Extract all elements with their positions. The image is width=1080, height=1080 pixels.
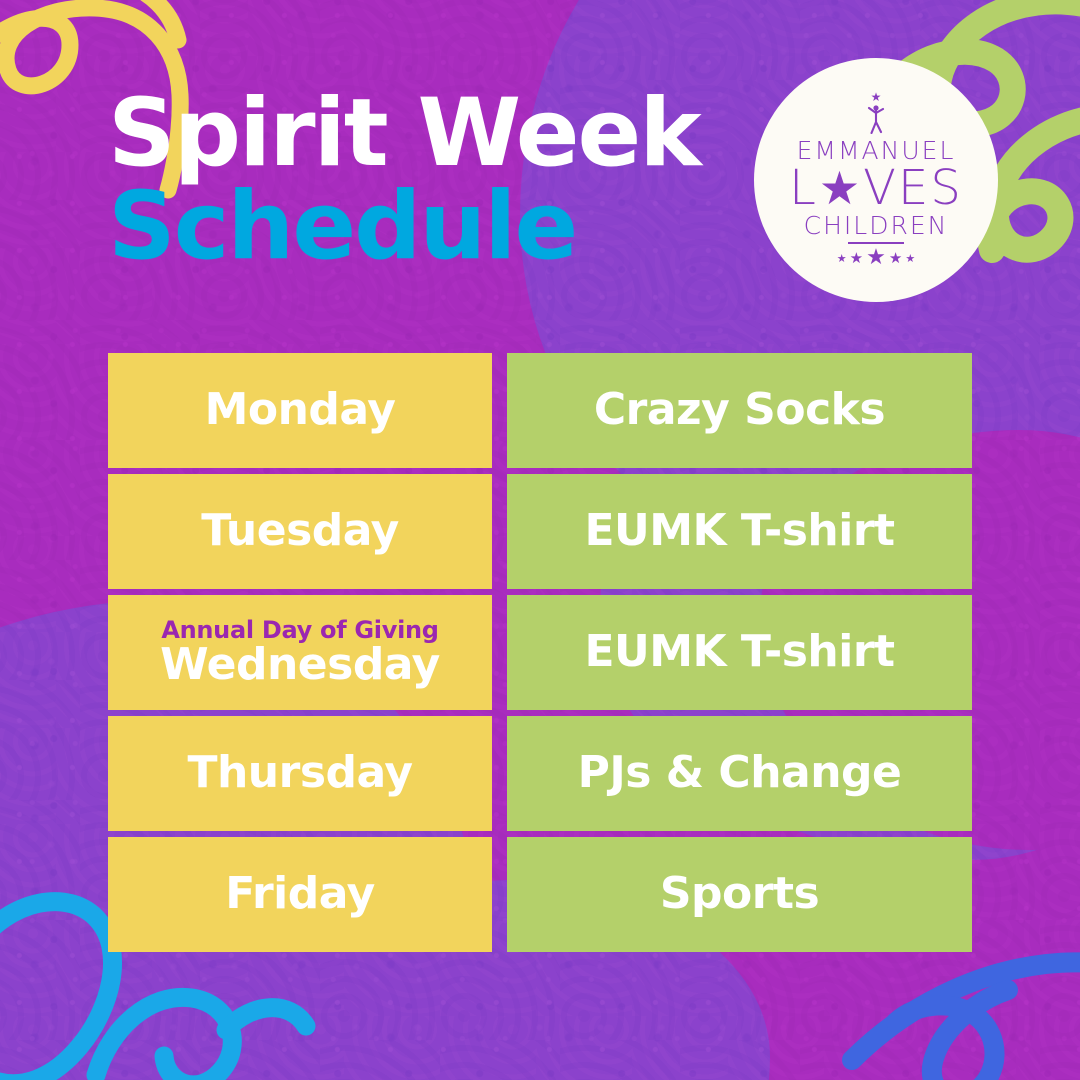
day-label: Monday	[205, 387, 396, 433]
day-cell: Thursday	[108, 716, 492, 831]
logo-star-icon: ★	[850, 251, 863, 266]
day-label: Thursday	[187, 750, 412, 796]
organization-logo: ★ EMMANUEL L ★ VES CHILDREN ★ ★ ★ ★ ★	[754, 58, 998, 302]
logo-word-children: CHILDREN	[804, 213, 949, 238]
child-figure-icon	[867, 104, 885, 134]
logo-word-loves-suffix: VES	[863, 163, 963, 213]
table-row: Tuesday EUMK T-shirt	[108, 474, 972, 589]
activity-label: Sports	[660, 871, 819, 917]
schedule-table: Monday Crazy Socks Tuesday EUMK T-shirt …	[108, 353, 972, 958]
activity-label: PJs & Change	[578, 750, 902, 796]
spirit-week-poster: Spirit Week Schedule ★ EMMANUEL L ★ VES …	[0, 0, 1080, 1080]
page-title-line2: Schedule	[108, 179, 728, 275]
day-label: Tuesday	[201, 508, 399, 554]
activity-cell: EUMK T-shirt	[507, 474, 972, 589]
logo-star-icon: ★	[905, 253, 915, 264]
day-label: Friday	[225, 871, 375, 917]
logo-star-icon: ★	[837, 253, 847, 264]
activity-cell: Sports	[507, 837, 972, 952]
activity-cell: Crazy Socks	[507, 353, 972, 468]
day-cell: Monday	[108, 353, 492, 468]
activity-cell: EUMK T-shirt	[507, 595, 972, 710]
logo-word-loves-prefix: L	[789, 163, 818, 213]
logo-star-row: ★ ★ ★ ★ ★	[837, 247, 915, 269]
logo-star-icon: ★	[889, 251, 902, 266]
poster-header: Spirit Week Schedule	[108, 88, 728, 275]
table-row: Annual Day of Giving Wednesday EUMK T-sh…	[108, 595, 972, 710]
logo-word-loves: L ★ VES	[789, 163, 963, 213]
page-title-line1: Spirit Week	[108, 88, 728, 179]
logo-star-icon: ★	[819, 165, 862, 211]
activity-cell: PJs & Change	[507, 716, 972, 831]
table-row: Friday Sports	[108, 837, 972, 952]
activity-label: Crazy Socks	[594, 387, 885, 433]
logo-top-star-icon: ★	[871, 91, 882, 103]
activity-label: EUMK T-shirt	[584, 508, 894, 554]
activity-label: EUMK T-shirt	[584, 629, 894, 675]
day-label: Wednesday	[160, 642, 440, 688]
table-row: Thursday PJs & Change	[108, 716, 972, 831]
day-cell: Friday	[108, 837, 492, 952]
table-row: Monday Crazy Socks	[108, 353, 972, 468]
logo-star-icon: ★	[866, 247, 886, 269]
logo-content: ★ EMMANUEL L ★ VES CHILDREN ★ ★ ★ ★ ★	[754, 58, 998, 302]
day-cell: Tuesday	[108, 474, 492, 589]
day-cell: Annual Day of Giving Wednesday	[108, 595, 492, 710]
logo-divider	[848, 242, 904, 244]
